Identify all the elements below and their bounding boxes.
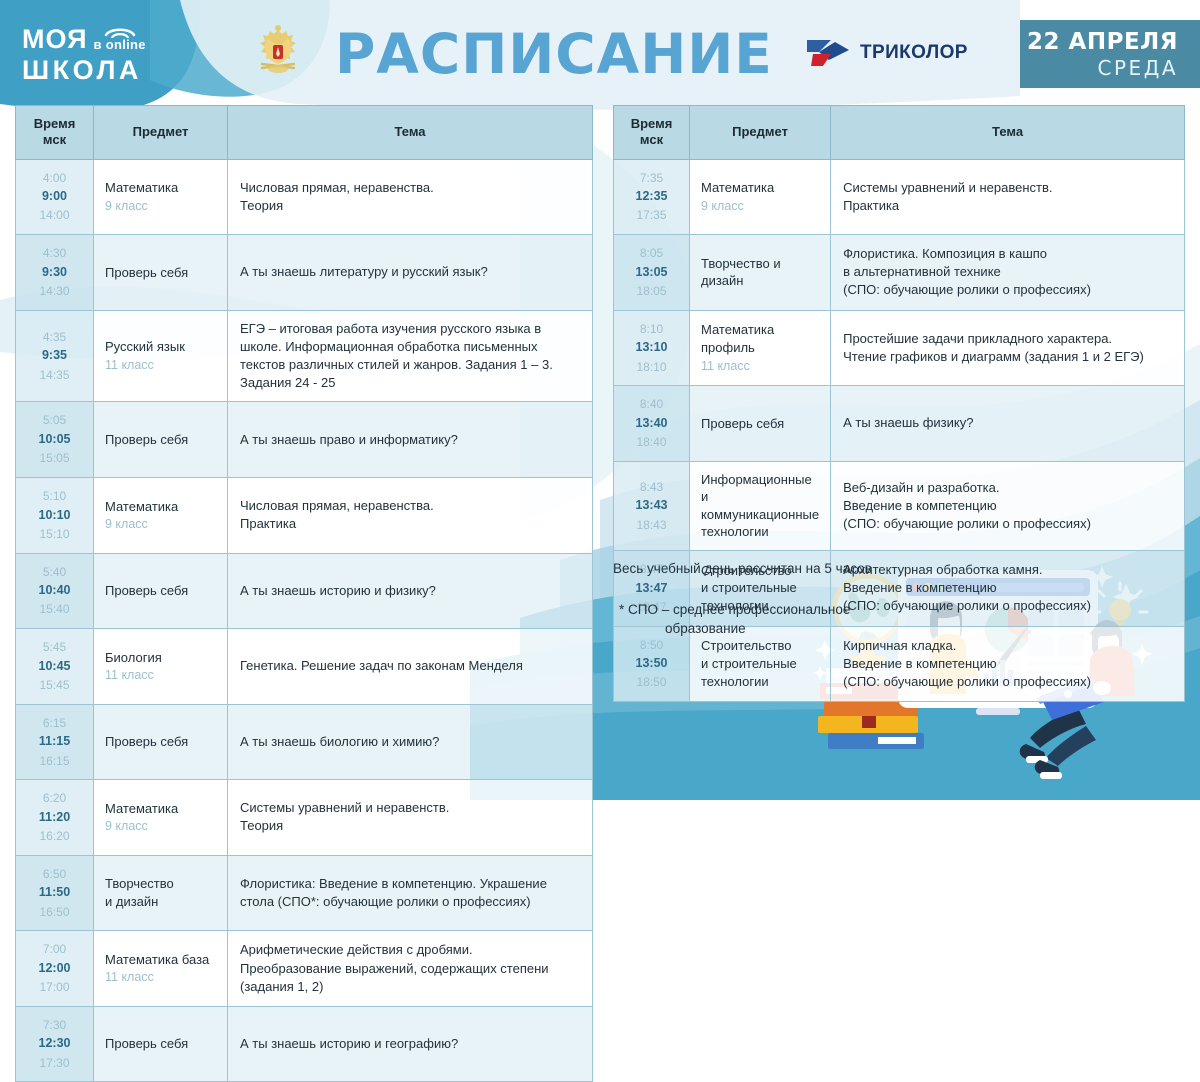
table-row: 6:2011:2016:20Математика9 классСистемы у… xyxy=(16,780,593,856)
table-row: 5:4510:4515:45Биология11 классГенетика. … xyxy=(16,629,593,705)
cell-topic: Флористика. Композиция в кашпов альтерна… xyxy=(831,235,1185,311)
schedule-table-left: Времямск Предмет Тема 4:009:0014:00Матем… xyxy=(15,105,593,1082)
table-row: 8:0513:0518:05Творчество идизайнФлористи… xyxy=(614,235,1185,311)
time-value: 18:40 xyxy=(618,433,685,452)
note-spo: * СПО – среднее профессиональное образов… xyxy=(613,601,1033,639)
table-row: 4:009:0014:00Математика9 классЧисловая п… xyxy=(16,159,593,235)
cell-time: 5:4510:4515:45 xyxy=(16,629,94,705)
time-value: 4:00 xyxy=(20,169,89,188)
cell-topic: А ты знаешь биологию и химию? xyxy=(228,704,593,780)
time-value: 18:05 xyxy=(618,282,685,301)
cell-time: 4:359:3514:35 xyxy=(16,310,94,402)
time-value: 12:30 xyxy=(20,1034,89,1053)
cell-time: 5:0510:0515:05 xyxy=(16,402,94,478)
time-value: 5:45 xyxy=(20,638,89,657)
cell-topic: А ты знаешь литературу и русский язык? xyxy=(228,235,593,311)
table-row: 7:0012:0017:00Математика база11 классАри… xyxy=(16,931,593,1007)
time-value: 8:10 xyxy=(618,320,685,339)
cell-subject: Математика9 класс xyxy=(94,477,228,553)
cell-subject: Проверь себя xyxy=(94,704,228,780)
time-value: 9:00 xyxy=(20,187,89,206)
subject-name: Математика xyxy=(701,180,774,195)
table-row: 7:3012:3017:30Проверь себяА ты знаешь ис… xyxy=(16,1006,593,1082)
table-row: 4:309:3014:30Проверь себяА ты знаешь лит… xyxy=(16,235,593,311)
cell-time: 8:4313:4318:43 xyxy=(614,461,690,550)
time-value: 14:30 xyxy=(20,282,89,301)
time-value: 17:30 xyxy=(20,1054,89,1073)
cell-time: 7:3512:3517:35 xyxy=(614,159,690,235)
cell-topic: А ты знаешь историю и физику? xyxy=(228,553,593,629)
note-duration: Весь учебный день рассчитан на 5 часов xyxy=(613,560,1033,579)
time-value: 18:10 xyxy=(618,358,685,377)
cell-time: 5:1010:1015:10 xyxy=(16,477,94,553)
cell-topic: А ты знаешь физику? xyxy=(831,386,1185,462)
subject-grade: 9 класс xyxy=(105,198,216,215)
time-value: 14:35 xyxy=(20,366,89,385)
cell-subject: Математика9 класс xyxy=(94,159,228,235)
subject-name: Проверь себя xyxy=(105,583,188,598)
time-value: 18:50 xyxy=(618,673,685,692)
column-header-subject: Предмет xyxy=(690,106,831,160)
note-spo-line1: * СПО – среднее профессиональное xyxy=(619,602,850,617)
subject-name: Математика xyxy=(105,499,178,514)
time-value: 6:20 xyxy=(20,789,89,808)
time-value: 16:50 xyxy=(20,903,89,922)
table-row: 5:0510:0515:05Проверь себяА ты знаешь пр… xyxy=(16,402,593,478)
cell-topic: Числовая прямая, неравенства.Практика xyxy=(228,477,593,553)
time-value: 6:15 xyxy=(20,714,89,733)
russian-federation-coat-of-arms-icon xyxy=(252,24,304,80)
cell-time: 5:4010:4015:40 xyxy=(16,553,94,629)
cell-time: 7:3012:3017:30 xyxy=(16,1006,94,1082)
cell-topic: Арифметические действия с дробями.Преобр… xyxy=(228,931,593,1007)
table-row: 7:3512:3517:35Математика9 классСистемы у… xyxy=(614,159,1185,235)
cell-subject: Математика9 класс xyxy=(690,159,831,235)
time-value: 15:40 xyxy=(20,600,89,619)
time-value: 4:30 xyxy=(20,244,89,263)
subject-grade: 11 класс xyxy=(701,358,819,375)
cell-topic: А ты знаешь историю и географию? xyxy=(228,1006,593,1082)
time-value: 4:35 xyxy=(20,328,89,347)
cell-subject: Творчествои дизайн xyxy=(94,855,228,931)
time-value: 17:00 xyxy=(20,978,89,997)
tricolor-label: ТРИКОЛОР xyxy=(860,42,968,64)
cell-subject: Проверь себя xyxy=(690,386,831,462)
cell-time: 6:1511:1516:15 xyxy=(16,704,94,780)
subject-name: Информационные икоммуникационныетехнолог… xyxy=(701,472,819,540)
cell-topic: А ты знаешь право и информатику? xyxy=(228,402,593,478)
time-value: 5:40 xyxy=(20,563,89,582)
cell-time: 8:0513:0518:05 xyxy=(614,235,690,311)
time-value: 11:15 xyxy=(20,732,89,751)
time-value: 11:20 xyxy=(20,808,89,827)
time-value: 15:10 xyxy=(20,525,89,544)
cell-subject: Творчество идизайн xyxy=(690,235,831,311)
time-value: 9:30 xyxy=(20,263,89,282)
table-row: 6:1511:1516:15Проверь себяА ты знаешь би… xyxy=(16,704,593,780)
footer-notes: Весь учебный день рассчитан на 5 часов *… xyxy=(613,560,1033,639)
subject-name: Проверь себя xyxy=(105,734,188,749)
subject-name: Биология xyxy=(105,650,162,665)
cell-subject: Проверь себя xyxy=(94,553,228,629)
subject-grade: 11 класс xyxy=(105,667,216,684)
cell-subject: Проверь себя xyxy=(94,402,228,478)
subject-name: Проверь себя xyxy=(105,432,188,447)
column-header-time: Времямск xyxy=(16,106,94,160)
logo-text-online: в online xyxy=(94,37,146,52)
subject-name: Творчество идизайн xyxy=(701,256,781,289)
time-value: 13:50 xyxy=(618,654,685,673)
table-row: 8:1013:1018:10Математикапрофиль11 классП… xyxy=(614,310,1185,386)
time-value: 9:35 xyxy=(20,346,89,365)
time-value: 8:43 xyxy=(618,478,685,497)
cell-subject: Проверь себя xyxy=(94,1006,228,1082)
cell-time: 8:4013:4018:40 xyxy=(614,386,690,462)
table-header-row: Времямск Предмет Тема xyxy=(614,106,1185,160)
subject-grade: 9 класс xyxy=(105,516,216,533)
time-value: 7:30 xyxy=(20,1016,89,1035)
column-header-topic: Тема xyxy=(228,106,593,160)
tricolor-logo-icon xyxy=(805,36,853,70)
wifi-icon xyxy=(103,25,137,38)
cell-subject: Математика база11 класс xyxy=(94,931,228,1007)
time-value: 11:50 xyxy=(20,883,89,902)
time-value: 7:00 xyxy=(20,940,89,959)
cell-time: 4:309:3014:30 xyxy=(16,235,94,311)
cell-topic: Флористика: Введение в компетенцию. Укра… xyxy=(228,855,593,931)
subject-name: Математика база xyxy=(105,952,209,967)
cell-topic: Веб-дизайн и разработка.Введение в компе… xyxy=(831,461,1185,550)
subject-name: Проверь себя xyxy=(105,1036,188,1051)
subject-name: Математикапрофиль xyxy=(701,322,774,355)
note-spo-line2: образование xyxy=(619,620,1033,639)
table-header-row: Времямск Предмет Тема xyxy=(16,106,593,160)
cell-topic: Простейшие задачи прикладного характера.… xyxy=(831,310,1185,386)
time-value: 17:35 xyxy=(618,206,685,225)
subject-name: Математика xyxy=(105,180,178,195)
cell-topic: Генетика. Решение задач по законам Менде… xyxy=(228,629,593,705)
time-value: 7:35 xyxy=(618,169,685,188)
subject-name: Проверь себя xyxy=(701,416,784,431)
subject-grade: 9 класс xyxy=(701,198,819,215)
subject-grade: 11 класс xyxy=(105,969,216,986)
cell-subject: Проверь себя xyxy=(94,235,228,311)
date-badge: 22 АПРЕЛЯ СРЕДА xyxy=(1020,20,1200,88)
subject-grade: 11 класс xyxy=(105,357,216,374)
cell-subject: Математикапрофиль11 класс xyxy=(690,310,831,386)
time-value: 12:35 xyxy=(618,187,685,206)
time-value: 10:45 xyxy=(20,657,89,676)
subject-name: Русский язык xyxy=(105,339,185,354)
table-row: 8:4313:4318:43Информационные икоммуникац… xyxy=(614,461,1185,550)
table-row: 4:359:3514:35Русский язык11 классЕГЭ – и… xyxy=(16,310,593,402)
time-value: 14:00 xyxy=(20,206,89,225)
cell-subject: Информационные икоммуникационныетехнолог… xyxy=(690,461,831,550)
page-title: РАСПИСАНИЕ xyxy=(335,22,773,86)
time-value: 8:05 xyxy=(618,244,685,263)
time-value: 16:20 xyxy=(20,827,89,846)
subject-name: Проверь себя xyxy=(105,265,188,280)
page-header: МОЯ в online ШКОЛА РАСПИСАНИЕ xyxy=(0,0,1200,100)
column-header-subject: Предмет xyxy=(94,106,228,160)
time-value: 15:05 xyxy=(20,449,89,468)
table-row: 8:4013:4018:40Проверь себяА ты знаешь фи… xyxy=(614,386,1185,462)
time-value: 10:05 xyxy=(20,430,89,449)
table-row: 6:5011:5016:50Творчествои дизайнФлористи… xyxy=(16,855,593,931)
cell-time: 4:009:0014:00 xyxy=(16,159,94,235)
time-value: 13:05 xyxy=(618,263,685,282)
cell-time: 6:5011:5016:50 xyxy=(16,855,94,931)
time-value: 16:15 xyxy=(20,752,89,771)
time-value: 5:05 xyxy=(20,411,89,430)
cell-time: 8:1013:1018:10 xyxy=(614,310,690,386)
column-header-topic: Тема xyxy=(831,106,1185,160)
subject-name: Математика xyxy=(105,801,178,816)
time-value: 13:40 xyxy=(618,414,685,433)
column-header-time: Времямск xyxy=(614,106,690,160)
brand-logo: МОЯ в online ШКОЛА xyxy=(22,26,146,84)
cell-topic: Системы уравнений и неравенств.Практика xyxy=(831,159,1185,235)
cell-subject: Русский язык11 класс xyxy=(94,310,228,402)
time-value: 12:00 xyxy=(20,959,89,978)
tricolor-partner-logo: ТРИКОЛОР xyxy=(805,36,968,70)
date-weekday: СРЕДА xyxy=(1020,56,1178,80)
cell-topic: ЕГЭ – итоговая работа изучения русского … xyxy=(228,310,593,402)
table-row: 5:1010:1015:10Математика9 классЧисловая … xyxy=(16,477,593,553)
cell-subject: Математика9 класс xyxy=(94,780,228,856)
subject-name: Строительствои строительныетехнологии xyxy=(701,638,797,688)
time-value: 8:40 xyxy=(618,395,685,414)
subject-name: Творчествои дизайн xyxy=(105,876,174,909)
table-row: 5:4010:4015:40Проверь себяА ты знаешь ис… xyxy=(16,553,593,629)
time-value: 10:40 xyxy=(20,581,89,600)
time-value: 15:45 xyxy=(20,676,89,695)
time-value: 13:43 xyxy=(618,496,685,515)
time-value: 6:50 xyxy=(20,865,89,884)
logo-text-moya: МОЯ xyxy=(22,26,88,53)
cell-time: 6:2011:2016:20 xyxy=(16,780,94,856)
time-value: 13:10 xyxy=(618,338,685,357)
logo-text-shkola: ШКОЛА xyxy=(22,57,146,84)
time-value: 5:10 xyxy=(20,487,89,506)
subject-grade: 9 класс xyxy=(105,818,216,835)
time-value: 10:10 xyxy=(20,506,89,525)
schedule-rows-left: 4:009:0014:00Математика9 классЧисловая п… xyxy=(16,159,593,1082)
cell-topic: Системы уравнений и неравенств.Теория xyxy=(228,780,593,856)
cell-subject: Биология11 класс xyxy=(94,629,228,705)
date-day: 22 АПРЕЛЯ xyxy=(1020,29,1178,55)
time-value: 18:43 xyxy=(618,516,685,535)
cell-topic: Числовая прямая, неравенства.Теория xyxy=(228,159,593,235)
cell-time: 7:0012:0017:00 xyxy=(16,931,94,1007)
